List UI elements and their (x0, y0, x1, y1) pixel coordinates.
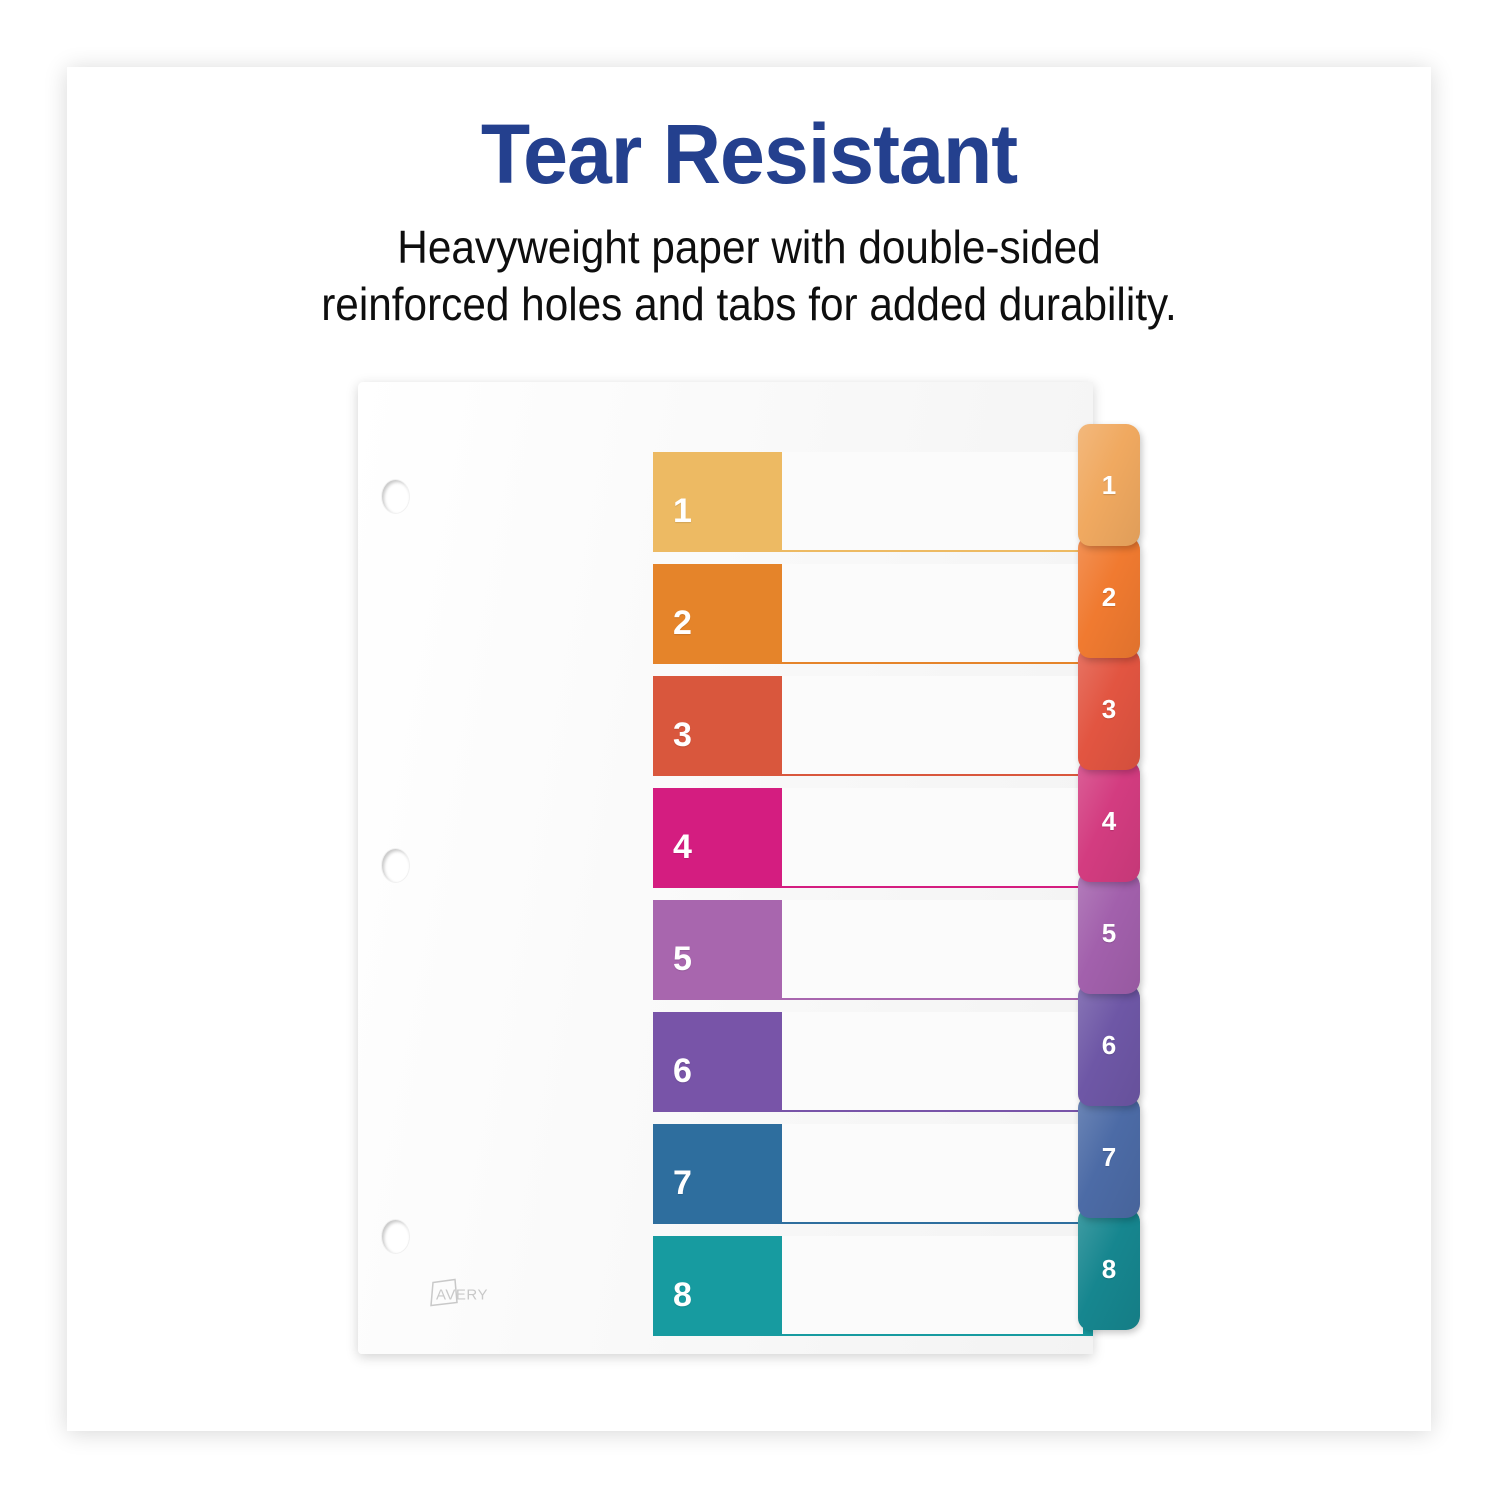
tab-number-label: 1 (1078, 472, 1140, 498)
divider-tab-5[interactable]: 5 (1078, 872, 1140, 994)
headline-block: Tear Resistant Heavyweight paper with do… (67, 107, 1431, 333)
divider-row: 4 (653, 788, 1093, 888)
tab-number-label: 4 (1078, 808, 1140, 834)
tab-number-label: 8 (1078, 1256, 1140, 1282)
divider-rule-line (782, 886, 1085, 888)
tab-number-label: 6 (1078, 1032, 1140, 1058)
divider-row: 8 (653, 1236, 1093, 1336)
divider-write-on-field[interactable] (782, 1012, 1083, 1110)
divider-row: 7 (653, 1124, 1093, 1224)
divider-number-label: 8 (673, 1278, 692, 1312)
divider-tab-1[interactable]: 1 (1078, 424, 1140, 546)
divider-number-label: 1 (673, 494, 692, 528)
divider-tabs: 12345678 (1078, 382, 1158, 1382)
subtitle-line-2: reinforced holes and tabs for added dura… (122, 276, 1377, 333)
divider-sheet: 12345678 AVERY (358, 382, 1093, 1354)
divider-write-on-field[interactable] (782, 1124, 1083, 1222)
divider-row: 6 (653, 1012, 1093, 1112)
tab-number-label: 5 (1078, 920, 1140, 946)
divider-tab-2[interactable]: 2 (1078, 536, 1140, 658)
divider-tab-3[interactable]: 3 (1078, 648, 1140, 770)
divider-row: 3 (653, 676, 1093, 776)
product-image-canvas: Tear Resistant Heavyweight paper with do… (0, 0, 1500, 1500)
divider-rule-line (782, 1334, 1085, 1336)
divider-write-on-field[interactable] (782, 676, 1083, 774)
divider-row: 5 (653, 900, 1093, 1000)
divider-write-on-field[interactable] (782, 452, 1083, 550)
white-content-card: Tear Resistant Heavyweight paper with do… (67, 67, 1431, 1431)
divider-number-label: 4 (673, 830, 692, 864)
divider-number-label: 5 (673, 942, 692, 976)
divider-write-on-field[interactable] (782, 900, 1083, 998)
divider-rows: 12345678 (358, 382, 1093, 1354)
divider-number-label: 6 (673, 1054, 692, 1088)
divider-number-label: 3 (673, 718, 692, 752)
avery-label-outline-icon: AVERY (426, 1277, 501, 1309)
divider-number-label: 7 (673, 1166, 692, 1200)
avery-logo: AVERY (426, 1277, 501, 1309)
divider-tab-7[interactable]: 7 (1078, 1096, 1140, 1218)
divider-write-on-field[interactable] (782, 1236, 1083, 1334)
divider-rule-line (782, 1110, 1085, 1112)
divider-product-illustration: 12345678 AVERY 12345678 (358, 382, 1158, 1382)
divider-write-on-field[interactable] (782, 788, 1083, 886)
divider-number-label: 2 (673, 606, 692, 640)
divider-rule-line (782, 550, 1085, 552)
svg-text:AVERY: AVERY (436, 1287, 488, 1304)
divider-tab-8[interactable]: 8 (1078, 1208, 1140, 1330)
divider-write-on-field[interactable] (782, 564, 1083, 662)
page-subtitle: Heavyweight paper with double-sided rein… (122, 219, 1377, 333)
divider-tab-6[interactable]: 6 (1078, 984, 1140, 1106)
tab-number-label: 3 (1078, 696, 1140, 722)
divider-rule-line (782, 998, 1085, 1000)
divider-rule-line (782, 774, 1085, 776)
divider-rule-line (782, 662, 1085, 664)
divider-row: 2 (653, 564, 1093, 664)
divider-row: 1 (653, 452, 1093, 552)
subtitle-line-1: Heavyweight paper with double-sided (122, 219, 1377, 276)
tab-number-label: 2 (1078, 584, 1140, 610)
page-title: Tear Resistant (94, 107, 1403, 201)
tab-number-label: 7 (1078, 1144, 1140, 1170)
divider-rule-line (782, 1222, 1085, 1224)
divider-tab-4[interactable]: 4 (1078, 760, 1140, 882)
